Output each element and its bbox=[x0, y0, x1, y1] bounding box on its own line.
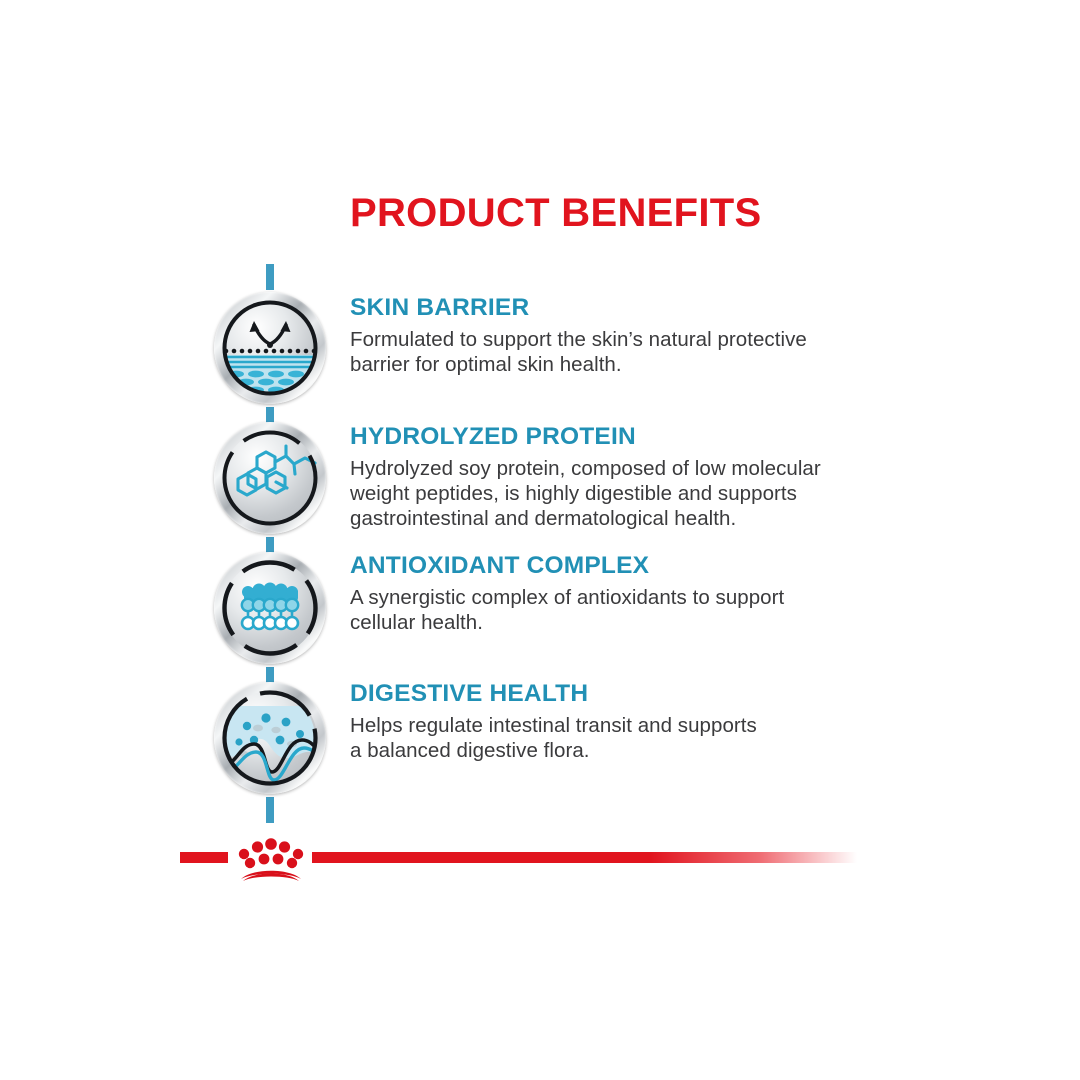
benefit-body-line: Hydrolyzed soy protein, composed of low … bbox=[350, 456, 870, 481]
benefit-text-digestive-health: DIGESTIVE HEALTH Helps regulate intestin… bbox=[350, 681, 870, 763]
benefit-heading: SKIN BARRIER bbox=[350, 295, 870, 321]
benefits-list: SKIN BARRIER Formulated to support the s… bbox=[0, 0, 1080, 1080]
benefit-body-line: a balanced digestive flora. bbox=[350, 738, 870, 763]
benefit-heading: HYDROLYZED PROTEIN bbox=[350, 424, 870, 450]
footer-brand-bar bbox=[0, 846, 1080, 906]
skin-barrier-glyph bbox=[214, 292, 326, 404]
benefit-body-line: Helps regulate intestinal transit and su… bbox=[350, 713, 870, 738]
benefit-body-line: weight peptides, is highly digestible an… bbox=[350, 481, 870, 506]
benefit-heading: DIGESTIVE HEALTH bbox=[350, 681, 870, 707]
footer-bar-left bbox=[180, 852, 228, 863]
benefit-body: Formulated to support the skin’s natural… bbox=[350, 327, 870, 377]
benefit-heading: ANTIOXIDANT COMPLEX bbox=[350, 553, 870, 579]
product-benefits-page: PRODUCT BENEFITS bbox=[0, 0, 1080, 1080]
hydrolyzed-protein-glyph bbox=[214, 422, 326, 534]
benefit-text-hydrolyzed-protein: HYDROLYZED PROTEIN Hydrolyzed soy protei… bbox=[350, 424, 870, 531]
digestive-health-icon bbox=[214, 682, 326, 794]
royal-canin-crown-logo bbox=[228, 832, 314, 884]
benefit-body-line: A synergistic complex of antioxidants to… bbox=[350, 585, 870, 610]
benefit-body-line: barrier for optimal skin health. bbox=[350, 352, 870, 377]
benefit-text-antioxidant-complex: ANTIOXIDANT COMPLEX A synergistic comple… bbox=[350, 553, 870, 635]
benefit-body-line: cellular health. bbox=[350, 610, 870, 635]
antioxidant-complex-glyph bbox=[214, 552, 326, 664]
digestive-health-glyph bbox=[214, 682, 326, 794]
benefit-body-line: gastrointestinal and dermatological heal… bbox=[350, 506, 870, 531]
footer-bar-right bbox=[312, 852, 857, 863]
antioxidant-complex-icon bbox=[214, 552, 326, 664]
hydrolyzed-protein-icon bbox=[214, 422, 326, 534]
benefit-body: Helps regulate intestinal transit and su… bbox=[350, 713, 870, 763]
benefit-text-skin-barrier: SKIN BARRIER Formulated to support the s… bbox=[350, 295, 870, 377]
benefit-body-line: Formulated to support the skin’s natural… bbox=[350, 327, 870, 352]
benefit-body: A synergistic complex of antioxidants to… bbox=[350, 585, 870, 635]
benefit-body: Hydrolyzed soy protein, composed of low … bbox=[350, 456, 870, 532]
skin-barrier-icon bbox=[214, 292, 326, 404]
